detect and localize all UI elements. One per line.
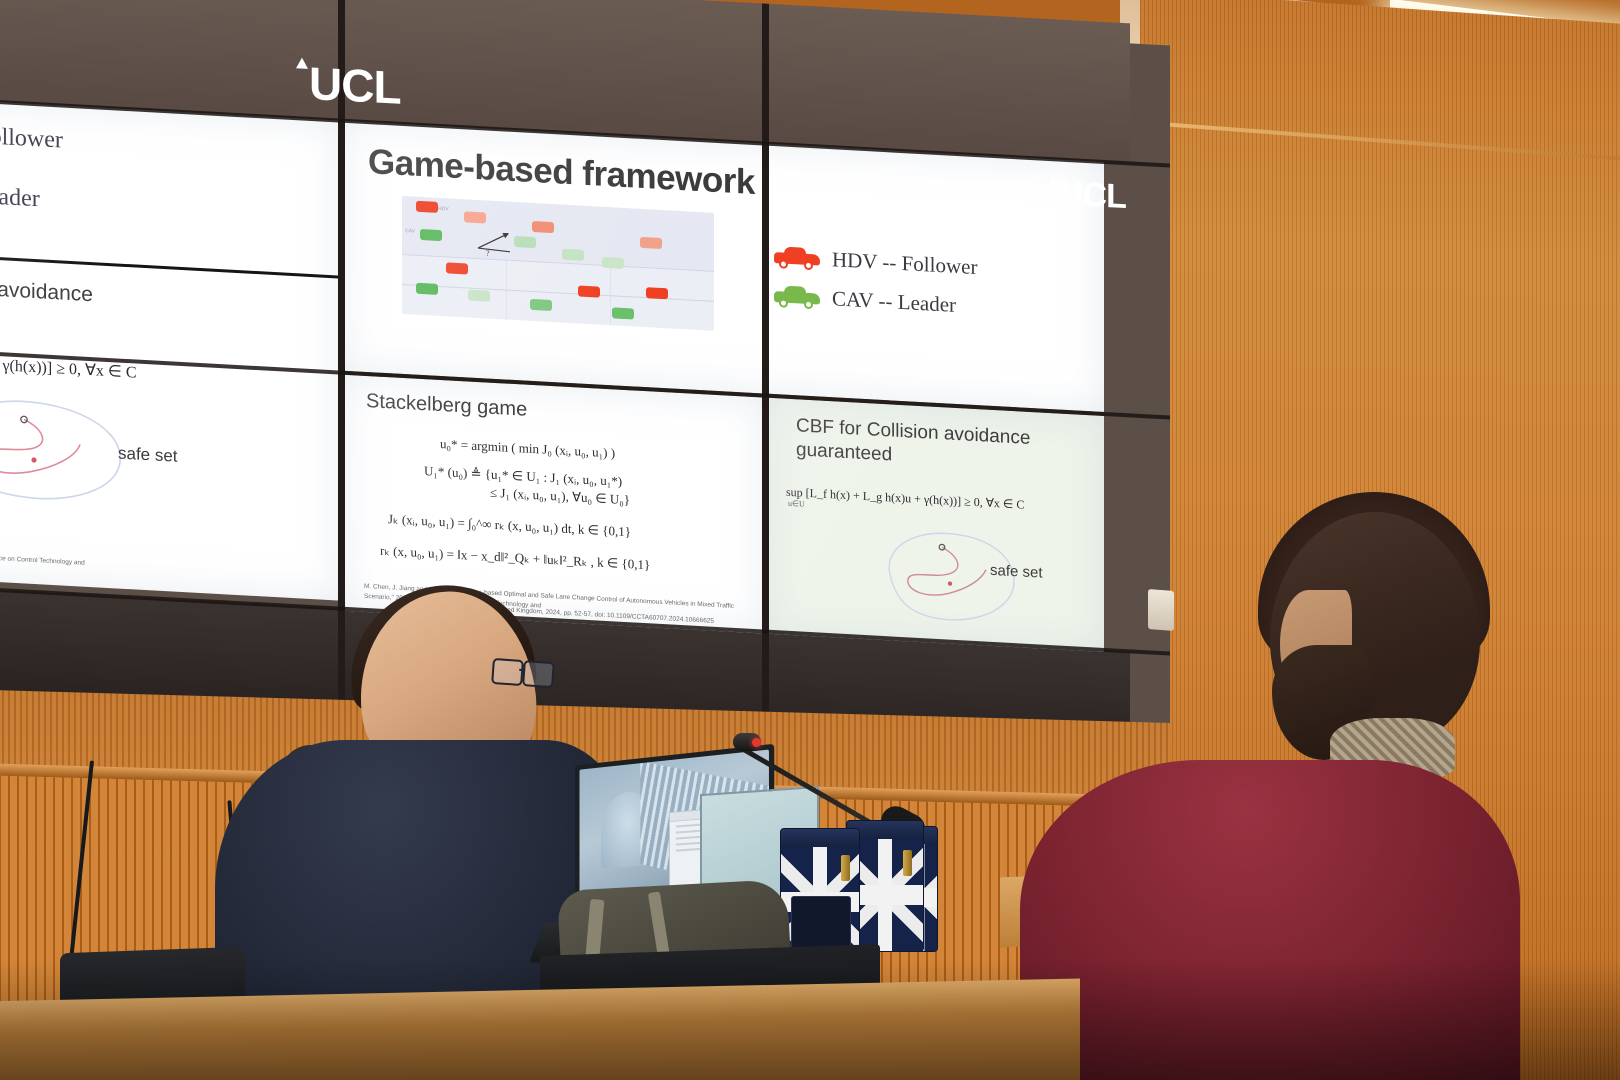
tea-tin-1	[780, 828, 860, 958]
stackelberg-eq-1: u₀* = argmin ( min J₀ (xᵢ, u₀, u₁) )	[440, 436, 615, 461]
display-panel-title: Game-based framework HDV CAV	[344, 121, 1104, 412]
display-panel-left: DV -- Follower AV -- Leader Collision av…	[0, 98, 340, 601]
left-cbf-heading-1: Collision avoidance	[0, 273, 93, 307]
cbf-equation: sup [L_f h(x) + L_g h(x)u + γ(h(x))] ≥ 0…	[786, 485, 1024, 512]
cbf-safe-set-label: safe set	[990, 562, 1043, 582]
listener-right	[1020, 760, 1520, 1080]
ucl-triangle-icon-2	[1048, 176, 1058, 186]
left-panel-divider	[0, 253, 340, 279]
cbf-safe-set-figure	[880, 522, 1020, 645]
legend-item-cav: CAV -- Leader	[774, 283, 977, 319]
cbf-equation-subscript: u∈U	[788, 499, 805, 509]
diagram-label-cav: CAV	[405, 228, 415, 235]
green-car-icon	[774, 285, 820, 309]
vehicle-legend: HDV -- Follower CAV -- Leader	[774, 244, 977, 333]
ucl-wordmark-2: UCL	[1059, 175, 1126, 217]
stackelberg-eq-5: rₖ (x, u₀, u₁) = ‖x − x_d‖²_Qₖ + ‖uₖ‖²_R…	[380, 543, 650, 574]
microphone-indicator-light	[752, 738, 761, 747]
wall-fixture	[1148, 589, 1174, 631]
left-safe-set-label: safe set	[118, 444, 178, 467]
left-legend-cav: AV -- Leader	[0, 180, 40, 214]
ucl-triangle-icon	[296, 57, 308, 69]
red-car-icon	[774, 246, 820, 270]
ucl-logo-top: UCL	[296, 55, 401, 114]
left-citation: cenario," 2024 IEEE Conference on Contro…	[0, 549, 242, 577]
left-legend-hdv: DV -- Follower	[0, 120, 63, 155]
slide-title: Game-based framework	[368, 142, 755, 203]
bezel-column-2	[762, 3, 769, 763]
presenter-glasses	[491, 658, 553, 688]
lane-change-scenario-diagram: HDV CAV	[402, 196, 714, 331]
video-wall: DV -- Follower AV -- Leader Collision av…	[0, 0, 1170, 786]
ucl-logo-slide: UCL	[1048, 174, 1126, 217]
cbf-heading-line2: guaranteed	[796, 439, 892, 466]
stackelberg-eq-4: Jₖ (xᵢ, u₀, u₁) = ∫₀^∞ rₖ (x, u₀, u₁) dt…	[388, 511, 631, 540]
diagram-label-hdv: HDV	[438, 206, 449, 213]
display-panel-cbf: CBF for Collision avoidance guaranteed s…	[768, 398, 1104, 652]
legend-item-hdv: HDV -- Follower	[774, 244, 977, 280]
ucl-wordmark-1: UCL	[309, 57, 401, 114]
stackelberg-heading: Stackelberg game	[366, 390, 527, 422]
legend-label-cav: CAV -- Leader	[832, 286, 956, 318]
lecture-room-photo: DV -- Follower AV -- Leader Collision av…	[0, 0, 1620, 1080]
legend-label-hdv: HDV -- Follower	[832, 247, 977, 280]
